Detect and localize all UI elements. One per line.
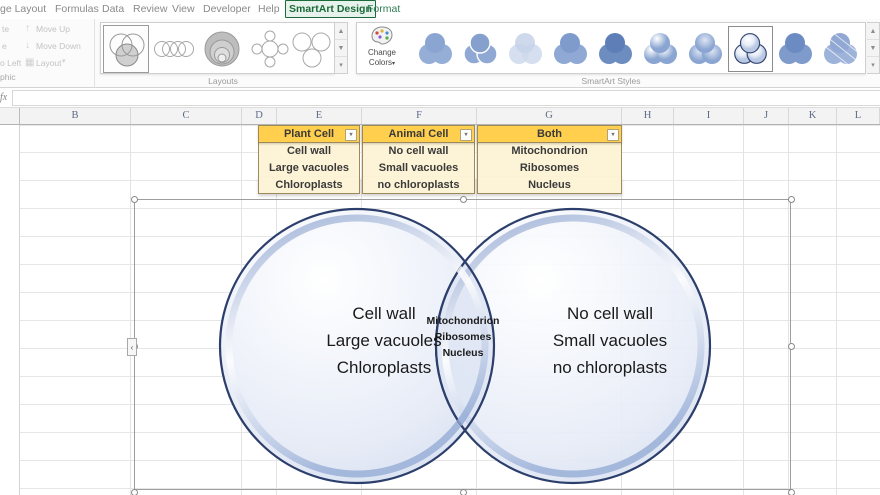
insert-function-icon[interactable]: fx [0,92,7,103]
resize-handle-bottom-left[interactable] [131,489,138,495]
column-header-E[interactable]: E [277,108,362,124]
filter-dropdown-icon[interactable]: ▾ [345,129,357,141]
layouts-scroll-down-button[interactable]: ▼ [335,40,347,57]
ribbon-group-layouts: ▲ ▼ ▾ Layouts [98,21,348,86]
smartart-styles-gallery[interactable]: Change Colors▾ [356,22,866,74]
layout-radial-venn[interactable] [247,25,293,73]
change-colors-line1: Change [358,48,406,58]
layout-icon: ▦ [25,57,34,68]
table-column-both: Both ▾ Mitochondrion Ribosomes Nucleus [477,125,622,194]
tab-formulas[interactable]: Formulas [55,1,99,18]
table-cell[interactable]: Cell wall [258,143,360,160]
style-moderate-effect-icon [548,26,593,72]
table-column-plant-cell: Plant Cell ▾ Cell wall Large vacuoles Ch… [258,125,360,194]
tab-data[interactable]: Data [102,1,124,18]
change-colors-button[interactable]: Change Colors▾ [358,24,406,74]
smartart-venn-object[interactable]: Cell wall Large vacuoles Chloroplasts Mi… [134,199,791,490]
layouts-gallery[interactable] [100,22,335,74]
layout-stacked-venn[interactable] [199,25,245,73]
style-simple-fill[interactable] [413,26,458,72]
resize-handle-bottom-right[interactable] [788,489,795,495]
column-header-G[interactable]: G [477,108,622,124]
tab-smartart-design[interactable]: SmartArt Design [285,0,376,18]
grid-vline [130,125,131,495]
resize-handle-middle-right[interactable] [788,343,795,350]
both-line-3: Nucleus [403,345,523,361]
ribbon-group-smartart-styles: Change Colors▾ [356,21,880,86]
table-header-cell[interactable]: Animal Cell ▾ [362,125,475,143]
style-cartoon[interactable] [728,26,773,72]
layouts-more-button[interactable]: ▾ [335,57,347,74]
style-powder-icon [773,26,818,72]
select-all-corner[interactable] [0,108,20,124]
column-header-L[interactable]: L [837,108,880,124]
chevron-down-icon: ▾ [62,57,66,65]
style-moderate-effect[interactable] [548,26,593,72]
resize-handle-bottom-center[interactable] [460,489,467,495]
layout-linear-venn[interactable] [151,25,197,73]
table-header-cell[interactable]: Both ▾ [477,125,622,143]
resize-handle-top-center[interactable] [460,196,467,203]
table-cell[interactable]: No cell wall [362,143,475,160]
animal-cell-line-2: Small vacuoles [515,327,705,354]
tab-view[interactable]: View [172,1,195,18]
cmd-move-up[interactable]: Move Up [36,24,70,34]
ribbon-group-label-layouts: Layouts [98,76,348,86]
layout-basic-venn[interactable] [103,25,149,73]
table-column-animal-cell: Animal Cell ▾ No cell wall Small vacuole… [362,125,475,194]
ribbon-group-label-styles: SmartArt Styles [356,76,866,86]
styles-scrollbar[interactable]: ▲ ▼ ▾ [867,22,880,74]
style-intense-effect[interactable] [593,26,638,72]
column-header-J[interactable]: J [744,108,789,124]
style-brick-scene[interactable] [818,26,863,72]
tab-page-layout[interactable]: ge Layout [0,1,46,18]
grid-vline [836,125,837,495]
formula-bar: fx [0,88,880,108]
resize-handle-top-left[interactable] [131,196,138,203]
column-header-C[interactable]: C [131,108,242,124]
layouts-scrollbar[interactable]: ▲ ▼ ▾ [335,22,348,74]
style-white-outline-icon [458,26,503,72]
cmd-promote[interactable]: te [2,24,9,34]
column-header-I[interactable]: I [674,108,744,124]
both-line-2: Ribosomes [403,329,523,345]
resize-handle-top-right[interactable] [788,196,795,203]
tab-help[interactable]: Help [258,1,280,18]
formula-input[interactable] [12,90,880,106]
style-white-outline[interactable] [458,26,503,72]
ribbon-group-label-graphic: phic [0,72,16,82]
column-header-row: B C D E F G H I J K L [0,108,880,125]
radial-venn-icon [247,25,293,73]
cmd-layout[interactable]: Layout [36,58,62,68]
table-cell[interactable]: Small vacuoles [362,160,475,177]
text-pane-toggle[interactable]: ‹ [127,338,137,356]
tab-review[interactable]: Review [133,1,167,18]
column-header-H[interactable]: H [622,108,674,124]
style-cartoon-icon [729,27,772,71]
style-polished[interactable] [638,26,683,72]
table-header-label: Plant Cell [284,128,334,140]
chevron-down-icon: ▾ [392,61,395,67]
styles-more-button[interactable]: ▾ [867,57,879,74]
stacked-venn-icon [199,25,245,73]
cmd-demote[interactable]: e [2,41,7,51]
animal-cell-text[interactable]: No cell wall Small vacuoles no chloropla… [515,300,705,381]
tab-developer[interactable]: Developer [203,1,251,18]
cmd-right-to-left[interactable]: o Left [0,58,21,68]
palette-icon [370,25,394,47]
style-subtle-effect-icon [503,26,548,72]
ribbon: te e o Left ↑ Move Up ↓ Move Down ▦ Layo… [0,19,880,88]
table-cell[interactable]: Large vacuoles [258,160,360,177]
style-simple-fill-icon [413,26,458,72]
table-header-label: Animal Cell [389,128,449,140]
both-line-1: Mitochondrion [403,313,523,329]
style-powder[interactable] [773,26,818,72]
arrow-up-icon: ↑ [25,23,30,34]
both-overlap-text[interactable]: Mitochondrion Ribosomes Nucleus [403,313,523,361]
style-inset-icon [683,26,728,72]
table-cell[interactable]: no chloroplasts [362,177,475,194]
styles-scroll-up-button[interactable]: ▲ [867,23,879,40]
cmd-move-down[interactable]: Move Down [36,41,81,51]
column-header-B[interactable]: B [20,108,131,124]
tab-format[interactable]: Format [367,1,400,18]
basic-radial-icon [289,25,335,73]
filter-dropdown-icon[interactable]: ▾ [460,129,472,141]
table-header-label: Both [537,128,562,140]
style-polished-icon [638,26,683,72]
table-cell[interactable]: Ribosomes [477,160,622,177]
animal-cell-line-1: No cell wall [515,300,705,327]
ribbon-group-create-graphic: te e o Left ↑ Move Up ↓ Move Down ▦ Layo… [0,19,95,88]
animal-cell-line-3: no chloroplasts [515,354,705,381]
filter-dropdown-icon[interactable]: ▾ [607,129,619,141]
layouts-scroll-up-button[interactable]: ▲ [335,23,347,40]
basic-venn-icon [104,26,150,74]
ribbon-tab-bar: ge Layout Formulas Data Review View Deve… [0,0,880,19]
table-cell[interactable]: Mitochondrion [477,143,622,160]
table-header-cell[interactable]: Plant Cell ▾ [258,125,360,143]
change-colors-label: Change Colors▾ [358,48,406,69]
column-header-K[interactable]: K [789,108,837,124]
arrow-down-icon: ↓ [25,40,30,51]
style-brick-scene-icon [818,26,863,72]
linear-venn-icon [151,25,197,73]
style-intense-effect-icon [593,26,638,72]
row-header-strip[interactable] [0,125,20,495]
style-subtle-effect[interactable] [503,26,548,72]
column-header-F[interactable]: F [362,108,477,124]
style-inset[interactable] [683,26,728,72]
column-header-D[interactable]: D [242,108,277,124]
change-colors-line2: Colors [369,58,392,68]
table-cell[interactable]: Chloroplasts [258,177,360,194]
styles-scroll-down-button[interactable]: ▼ [867,40,879,57]
table-cell[interactable]: Nucleus [477,177,622,194]
layout-basic-radial[interactable] [289,25,335,73]
